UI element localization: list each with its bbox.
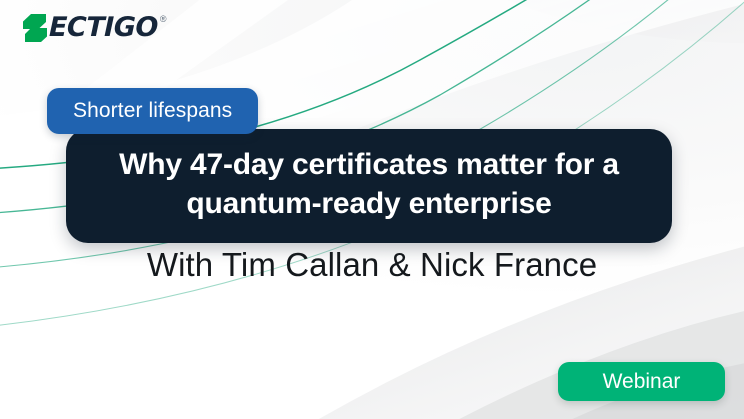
eyebrow-label: Shorter lifespans	[73, 99, 232, 123]
promo-slide: ECTIGO ® Shorter lifespans Why 47-day ce…	[0, 0, 744, 419]
trademark-symbol: ®	[160, 13, 167, 26]
sectigo-s-mark-icon	[22, 13, 48, 43]
eyebrow-badge: Shorter lifespans	[47, 88, 258, 134]
logo-wordmark: ECTIGO	[49, 13, 158, 43]
webinar-tag-label: Webinar	[603, 370, 681, 394]
sectigo-logo: ECTIGO ®	[22, 13, 166, 43]
presenters-subtitle: With Tim Callan & Nick France	[0, 246, 744, 284]
headline-text: Why 47-day certificates matter for a qua…	[92, 145, 646, 223]
headline-panel: Why 47-day certificates matter for a qua…	[66, 129, 672, 243]
webinar-tag: Webinar	[558, 362, 725, 401]
